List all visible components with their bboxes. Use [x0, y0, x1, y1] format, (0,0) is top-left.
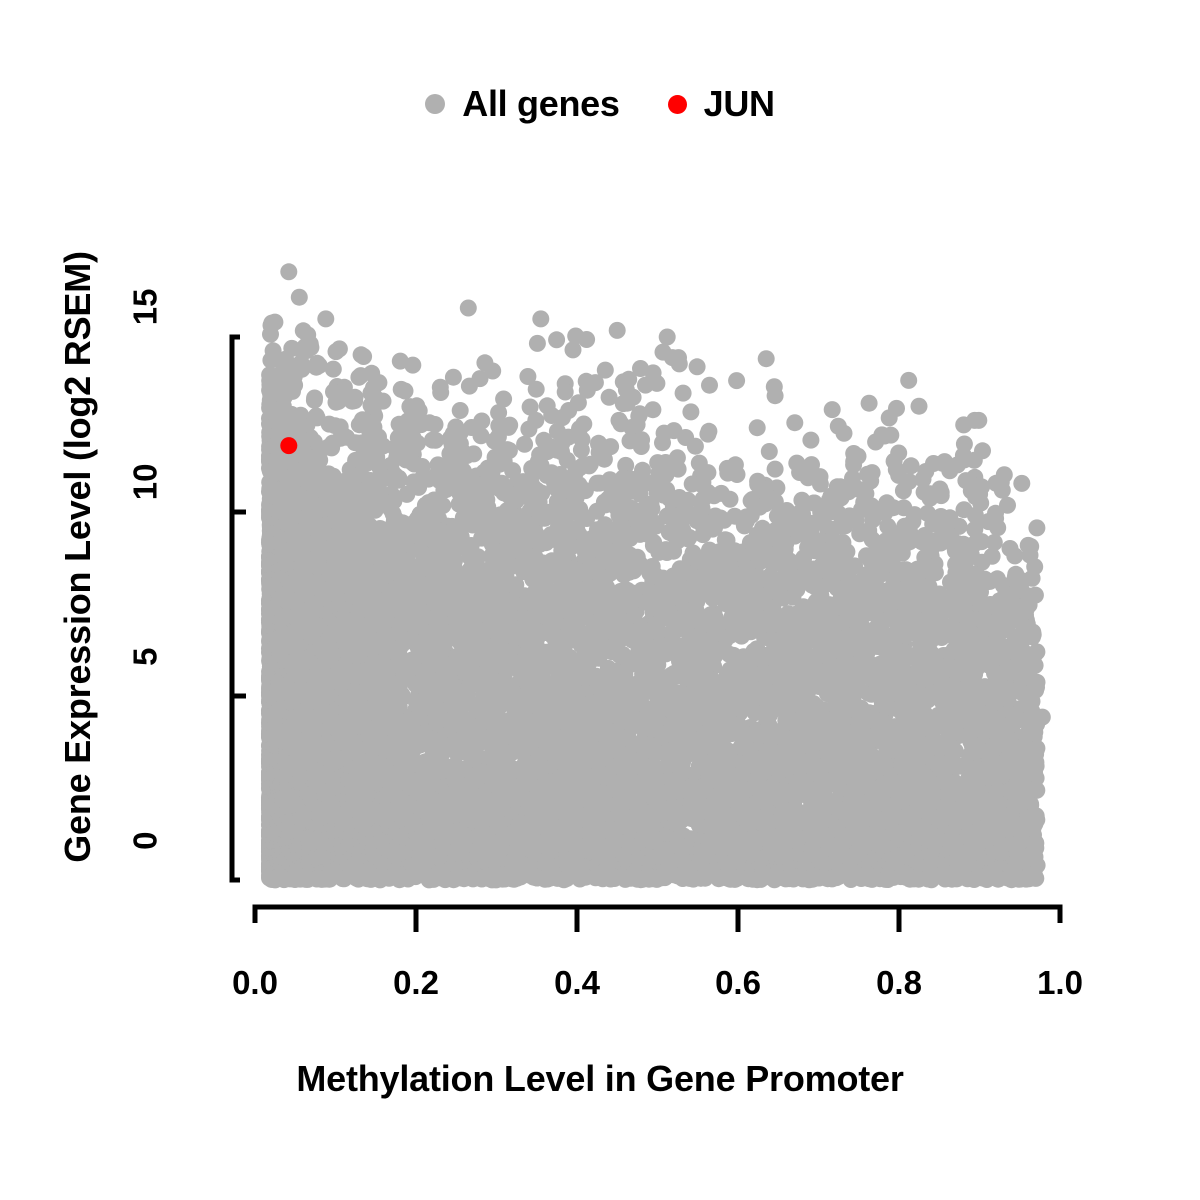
x-axis-line [255, 907, 1060, 923]
jun-point [280, 437, 297, 454]
x-tick-label-3: 0.6 [678, 966, 798, 999]
x-tick-label-4: 0.8 [839, 966, 959, 999]
scatter-plot-figure: All genes JUN 0.0 0.2 0.4 0.6 0.8 1.0 0 … [0, 0, 1200, 1200]
x-tick-label-1: 0.2 [356, 966, 476, 999]
jun-highlight-point [280, 437, 297, 454]
y-tick-label-2: 10 [129, 464, 162, 564]
x-tick-label-5: 1.0 [1000, 966, 1120, 999]
y-tick-label-3: 15 [129, 289, 162, 389]
data-points-layer [261, 263, 1051, 888]
y-tick-label-0: 0 [129, 832, 162, 932]
y-tick-label-1: 5 [129, 648, 162, 748]
plot-canvas [0, 0, 1200, 1200]
y-axis-label: Gene Expression Level (log2 RSEM) [57, 187, 99, 927]
x-tick-label-0: 0.0 [195, 966, 315, 999]
y-axis-line [232, 337, 240, 880]
x-axis-label: Methylation Level in Gene Promoter [0, 1058, 1200, 1100]
x-tick-label-2: 0.4 [517, 966, 637, 999]
